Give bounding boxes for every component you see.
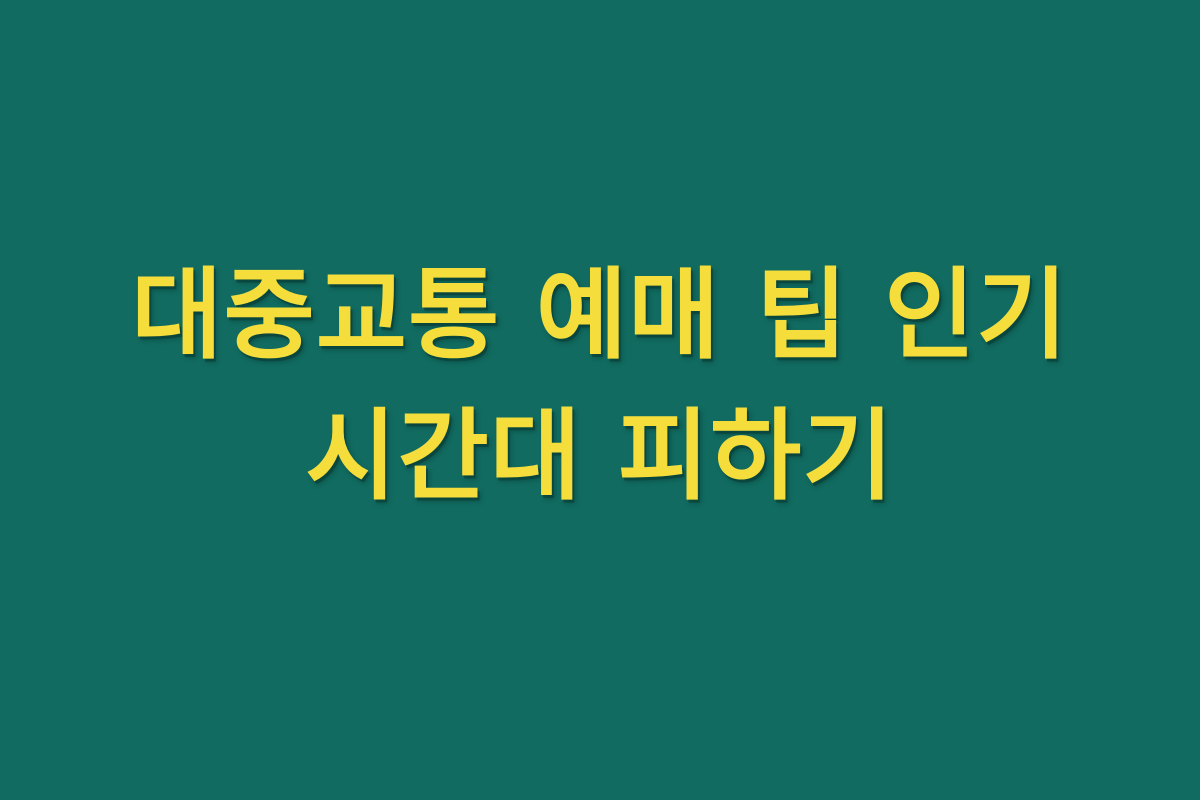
headline-line-1: 대중교통 예매 팁 인기 [0, 246, 1200, 387]
banner-canvas: 대중교통 예매 팁 인기 시간대 피하기 [0, 0, 1200, 800]
headline-line-2: 시간대 피하기 [0, 387, 1200, 528]
headline-block: 대중교통 예매 팁 인기 시간대 피하기 [0, 246, 1200, 527]
